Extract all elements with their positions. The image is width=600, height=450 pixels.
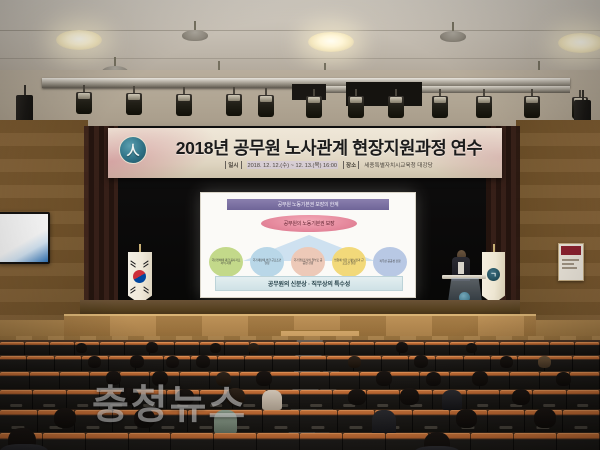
seat[interactable] [500, 342, 525, 355]
seat-row[interactable] [0, 390, 600, 409]
presentation-slide: 공무원 노동기본권 보장의 한계 공무원의 노동기본권 보장 국민전체에 대한 … [201, 193, 415, 297]
audience-member [134, 409, 155, 428]
ceiling-downlight [558, 33, 600, 53]
speaker-shirt [458, 262, 464, 274]
seat[interactable] [382, 356, 409, 371]
seat[interactable] [245, 356, 272, 371]
seat[interactable] [86, 433, 129, 450]
seat[interactable] [175, 342, 200, 355]
seat[interactable] [0, 356, 27, 371]
ceiling [0, 0, 600, 72]
slide-circle: 직무상 공공성 강함 [373, 247, 407, 277]
seat[interactable] [300, 342, 325, 355]
audience-member [262, 390, 282, 410]
audience-member [216, 372, 231, 386]
banner-place-label: 장소 [343, 161, 359, 169]
ceiling-downlight [308, 32, 354, 52]
audience-member [0, 444, 48, 450]
audience-member [176, 389, 194, 405]
seat[interactable] [563, 410, 600, 432]
audience-member [414, 355, 428, 368]
seat[interactable] [67, 390, 100, 409]
seat[interactable] [367, 390, 400, 409]
seat[interactable] [263, 410, 301, 432]
wall-poster [558, 243, 584, 281]
slide-main-oval: 공무원의 노동기본권 보장 [261, 215, 357, 232]
seat[interactable] [50, 342, 75, 355]
slide-circle: 국가재정에 의한 근로조건 결정 [250, 247, 284, 277]
seat[interactable] [218, 356, 245, 371]
seat[interactable] [573, 356, 600, 371]
seat-row[interactable] [0, 410, 600, 432]
banner-title: 2018년 공무원 노사관계 현장지원과정 연수 [160, 135, 498, 160]
audience-member [256, 371, 272, 386]
poster-text-line [562, 263, 574, 265]
seat[interactable] [0, 390, 33, 409]
seat-row[interactable] [0, 342, 600, 355]
audience-member [556, 372, 571, 386]
poster-header-band [561, 246, 581, 255]
seat[interactable] [510, 372, 540, 389]
seat[interactable] [325, 342, 350, 355]
seat[interactable] [525, 342, 550, 355]
seat[interactable] [300, 372, 330, 389]
korean-national-flag [128, 252, 152, 304]
stage-light-icon [76, 92, 92, 114]
seat[interactable] [514, 433, 557, 450]
stage-light-icon [306, 96, 322, 118]
seat[interactable] [75, 410, 113, 432]
stage-light-icon [226, 94, 242, 116]
audience-member [396, 342, 408, 353]
seat[interactable] [0, 372, 30, 389]
ceiling-downlight [56, 30, 102, 50]
seat[interactable] [330, 372, 360, 389]
seat[interactable] [27, 356, 54, 371]
seat[interactable] [570, 372, 600, 389]
seat[interactable] [180, 372, 210, 389]
organization-emblem-icon: 人 [119, 136, 147, 164]
seat[interactable] [273, 356, 300, 371]
slide-circle: 국가행정조직의 일부로 공공성 강함 [291, 247, 325, 277]
stage-light-icon [258, 95, 274, 117]
stage-light-icon [126, 93, 142, 115]
audience-member [226, 388, 245, 405]
audience-member [196, 355, 210, 368]
seat[interactable] [425, 342, 450, 355]
ceiling-pendant-fixture [182, 30, 208, 41]
seat[interactable] [43, 433, 86, 450]
seat[interactable] [575, 342, 600, 355]
ceiling-seam-lower [0, 58, 600, 59]
organization-flag-emblem-icon: ㄱ [487, 268, 500, 281]
banner-date-value: 2018. 12. 12.(수) ~ 12. 13.(목) 16:00 [247, 161, 338, 169]
stage-light-icon [176, 94, 192, 116]
audience-member [538, 356, 551, 368]
seat[interactable] [300, 433, 343, 450]
audience-member [534, 408, 556, 428]
audience-member [146, 342, 158, 353]
seat[interactable] [25, 342, 50, 355]
seat[interactable] [557, 433, 600, 450]
audience-member [400, 388, 419, 405]
audience-member [54, 408, 76, 428]
poster-text-line [562, 259, 579, 261]
seat[interactable] [60, 372, 90, 389]
seat[interactable] [30, 372, 60, 389]
audience-member [414, 446, 460, 450]
slide-title-bar: 공무원 노동기본권 보장의 한계 [227, 199, 389, 210]
seat-row[interactable] [0, 372, 600, 389]
projection-screen: 공무원 노동기본권 보장의 한계 공무원의 노동기본권 보장 국민전체에 대한 … [200, 192, 416, 298]
event-banner: 人 2018년 공무원 노사관계 현장지원과정 연수 일시 2018. 12. … [108, 128, 502, 178]
audience-member [214, 410, 237, 434]
ceiling-pendant-fixture [440, 31, 466, 42]
seat[interactable] [171, 433, 214, 450]
audience-member [106, 371, 121, 385]
seat[interactable] [471, 433, 514, 450]
audience-member [166, 356, 179, 368]
seat[interactable] [475, 342, 500, 355]
poster-text-line [562, 267, 577, 269]
seat[interactable] [150, 410, 188, 432]
seat[interactable] [55, 356, 82, 371]
seat[interactable] [436, 356, 463, 371]
audience-member [348, 389, 366, 405]
auditorium-photo: 人 2018년 공무원 노사관계 현장지원과정 연수 일시 2018. 12. … [0, 0, 600, 450]
seat[interactable] [464, 356, 491, 371]
audience-member [210, 343, 221, 353]
audience-member [348, 356, 361, 368]
seat[interactable] [214, 433, 257, 450]
lighting-truss-secondary [300, 86, 570, 93]
seat-row[interactable] [0, 433, 600, 450]
seat[interactable] [567, 390, 600, 409]
wall-monitor [0, 212, 50, 264]
seat[interactable] [225, 342, 250, 355]
seat[interactable] [390, 372, 420, 389]
seat[interactable] [338, 410, 376, 432]
audience-member [248, 343, 259, 353]
banner-place-value: 세종특별자치시교육청 대강당 [364, 161, 432, 169]
slide-bottom-bar: 공무원의 신분상 · 직무상의 특수성 [215, 276, 403, 291]
slide-circle-group: 국민전체에 대한 봉사자로서의 지위 국가재정에 의한 근로조건 결정 국가행정… [209, 247, 407, 277]
seat[interactable] [300, 356, 327, 371]
stage-light-icon [388, 96, 404, 118]
seat[interactable] [270, 372, 300, 389]
stage-light-icon [432, 96, 448, 118]
seat[interactable] [343, 433, 386, 450]
seat[interactable] [129, 433, 172, 450]
banner-subtitle: 일시 2018. 12. 12.(수) ~ 12. 13.(목) 16:00 장… [160, 161, 498, 169]
seat[interactable] [300, 390, 333, 409]
audience-member [376, 371, 392, 386]
seat[interactable] [467, 390, 500, 409]
audience-member [456, 409, 477, 428]
slide-circle: 법령에 의한 신분보장과 근로조건 결정 [332, 247, 366, 277]
slide-circle: 국민전체에 대한 봉사자로서의 지위 [209, 247, 243, 277]
stage-light-icon [476, 96, 492, 118]
audience-member [120, 388, 139, 405]
audience-member [466, 343, 477, 353]
seat[interactable] [488, 410, 526, 432]
seat[interactable] [0, 342, 25, 355]
audience-member [152, 371, 168, 386]
seat[interactable] [533, 390, 566, 409]
seat[interactable] [120, 372, 150, 389]
taeguk-circle-icon [133, 270, 146, 283]
audience-member [512, 389, 530, 405]
seat[interactable] [33, 390, 66, 409]
banner-date-label: 일시 [225, 161, 241, 169]
audience-member [442, 390, 462, 410]
audience-seating [0, 340, 600, 450]
seat[interactable] [550, 342, 575, 355]
seat[interactable] [100, 342, 125, 355]
stage-light-icon [348, 96, 364, 118]
seat[interactable] [275, 342, 300, 355]
seat[interactable] [350, 342, 375, 355]
audience-member [88, 356, 101, 368]
audience-member [500, 356, 513, 368]
audience-member [472, 371, 488, 386]
audience-member [426, 372, 441, 386]
seat[interactable] [257, 433, 300, 450]
seat[interactable] [300, 410, 338, 432]
audience-member [130, 355, 144, 368]
audience-member [76, 343, 87, 353]
seat[interactable] [413, 410, 451, 432]
stage-light-icon [524, 96, 540, 118]
